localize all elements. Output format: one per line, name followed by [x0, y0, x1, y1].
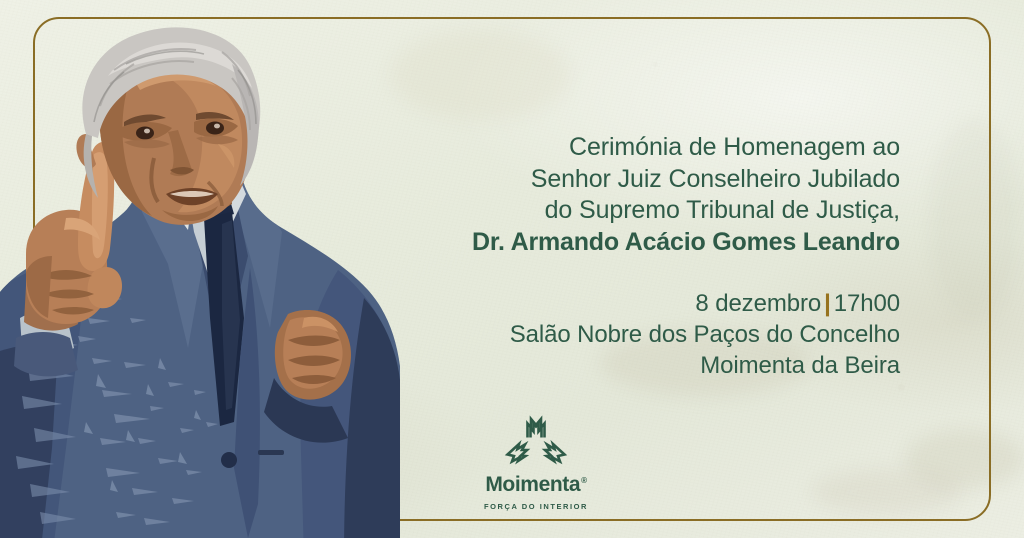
event-time: 17h00 [834, 290, 900, 317]
moimenta-trees-icon [500, 414, 572, 468]
moimenta-logo: Moimenta® FORÇA DO INTERIOR [452, 414, 620, 511]
headline-line-3: do Supremo Tribunal de Justiça, [380, 195, 900, 227]
headline-line-2: Senhor Juiz Conselheiro Jubilado [380, 164, 900, 196]
event-text-block: Cerimónia de Homenagem ao Senhor Juiz Co… [380, 132, 900, 381]
datetime-separator: | [821, 288, 834, 319]
event-datetime: 8 dezembro|17h00 [380, 288, 900, 319]
headline: Cerimónia de Homenagem ao Senhor Juiz Co… [380, 132, 900, 258]
event-venue: Salão Nobre dos Paços do Concelho [380, 319, 900, 350]
poster-canvas: Cerimónia de Homenagem ao Senhor Juiz Co… [0, 0, 1024, 538]
logo-tagline: FORÇA DO INTERIOR [452, 502, 620, 511]
paper-stain [930, 120, 1020, 320]
paper-stain [905, 430, 1024, 488]
event-location: Moimenta da Beira [380, 350, 900, 381]
paper-stain [390, 30, 570, 120]
honoree-name: Dr. Armando Acácio Gomes Leandro [380, 227, 900, 259]
paper-stain [812, 470, 962, 514]
registered-mark: ® [581, 476, 587, 485]
portrait-illustration [0, 18, 412, 538]
event-details: 8 dezembro|17h00 Salão Nobre dos Paços d… [380, 288, 900, 381]
logo-wordmark: Moimenta® [485, 473, 586, 497]
event-date: 8 dezembro [695, 290, 821, 317]
headline-line-1: Cerimónia de Homenagem ao [380, 132, 900, 164]
logo-wordmark-text: Moimenta [485, 473, 580, 496]
